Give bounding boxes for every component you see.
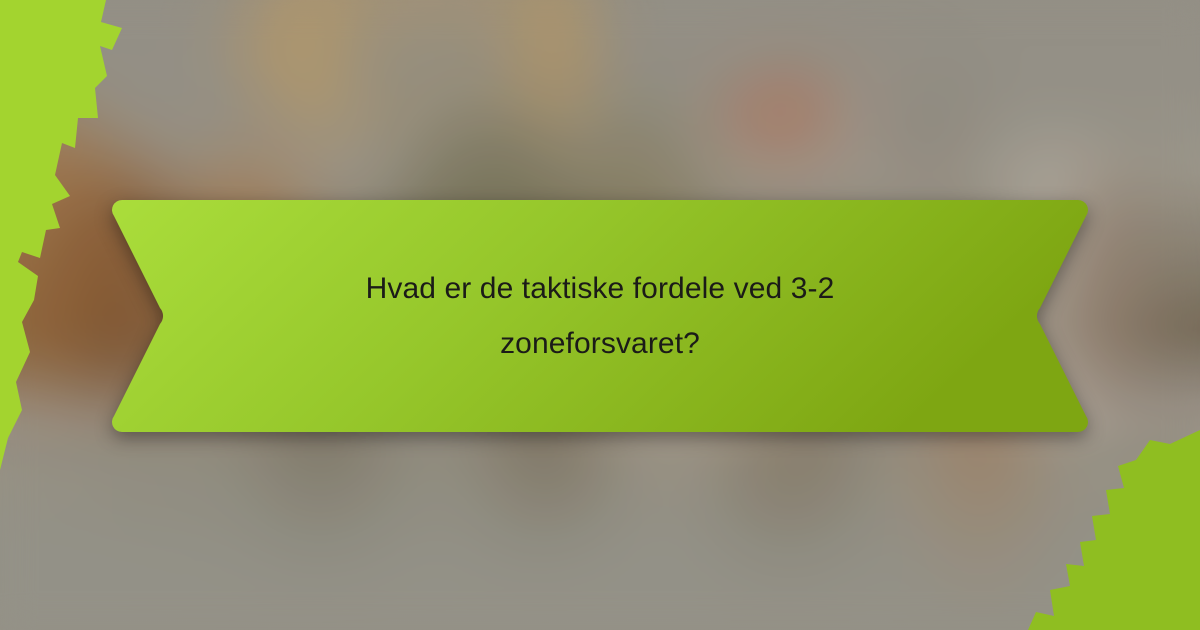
bottom-right-torn-corner-icon — [1010, 430, 1200, 630]
heading-line-1: Hvad er de taktiske fordele ved 3-2 — [366, 261, 835, 316]
social-card: Hvad er de taktiske fordele ved 3-2 zone… — [0, 0, 1200, 630]
banner-heading: Hvad er de taktiske fordele ved 3-2 zone… — [108, 196, 1092, 436]
heading-line-2: zoneforsvaret? — [500, 316, 700, 371]
